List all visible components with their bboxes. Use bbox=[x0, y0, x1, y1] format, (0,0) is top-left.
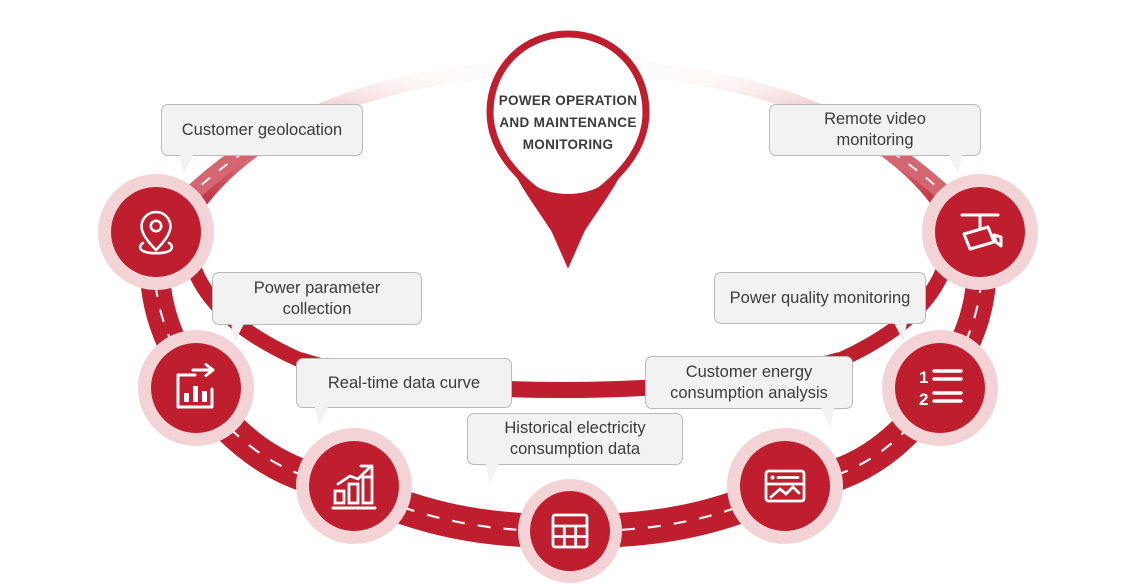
label-customer-energy-consumption-analysis[interactable]: Customer energy consumption analysis bbox=[645, 356, 853, 409]
node-disc bbox=[530, 491, 610, 571]
node-power-parameter-collection[interactable] bbox=[138, 330, 254, 446]
label-real-time-data-curve[interactable]: Real-time data curve bbox=[296, 358, 512, 408]
center-pin-title: POWER OPERATION AND MAINTENANCE MONITORI… bbox=[482, 90, 654, 156]
growth-chart-icon bbox=[328, 460, 380, 512]
label-text: Power quality monitoring bbox=[730, 288, 911, 309]
label-text: Real-time data curve bbox=[328, 373, 480, 394]
node-remote-video-monitoring[interactable] bbox=[922, 174, 1038, 290]
node-disc bbox=[111, 187, 201, 277]
label-text: Historical electricity consumption data bbox=[482, 418, 668, 460]
table-grid-icon bbox=[548, 509, 592, 553]
cctv-camera-icon bbox=[954, 208, 1006, 256]
callout-tail bbox=[231, 324, 244, 341]
center-pin: POWER OPERATION AND MAINTENANCE MONITORI… bbox=[482, 28, 654, 268]
bar-chart-export-icon bbox=[171, 363, 221, 413]
node-customer-energy-consumption-analysis[interactable] bbox=[727, 428, 843, 544]
label-power-parameter-collection[interactable]: Power parameter collection bbox=[212, 272, 422, 325]
svg-text:1: 1 bbox=[919, 368, 928, 387]
node-historical-electricity-consumption-data[interactable] bbox=[518, 479, 622, 583]
node-disc: 1 2 bbox=[895, 343, 985, 433]
node-customer-geolocation[interactable] bbox=[98, 174, 214, 290]
window-line-chart-icon bbox=[760, 461, 810, 511]
center-pin-title-line-3: MONITORING bbox=[482, 134, 654, 156]
label-text: Power parameter collection bbox=[227, 278, 407, 320]
diagram-canvas: POWER OPERATION AND MAINTENANCE MONITORI… bbox=[0, 0, 1139, 587]
node-disc bbox=[309, 441, 399, 531]
node-disc bbox=[935, 187, 1025, 277]
callout-tail bbox=[894, 323, 907, 340]
svg-text:2: 2 bbox=[919, 390, 928, 409]
node-disc bbox=[740, 441, 830, 531]
numbered-list-icon: 1 2 bbox=[915, 365, 965, 411]
node-disc bbox=[151, 343, 241, 433]
callout-tail bbox=[949, 155, 962, 172]
label-customer-geolocation[interactable]: Customer geolocation bbox=[161, 104, 363, 156]
callout-tail bbox=[315, 407, 328, 424]
callout-tail bbox=[486, 464, 499, 481]
node-power-quality-monitoring[interactable]: 1 2 bbox=[882, 330, 998, 446]
label-text: Customer geolocation bbox=[182, 120, 343, 141]
label-power-quality-monitoring[interactable]: Power quality monitoring bbox=[714, 272, 926, 324]
label-historical-electricity-consumption-data[interactable]: Historical electricity consumption data bbox=[467, 413, 683, 465]
map-pin-icon bbox=[130, 206, 182, 258]
label-text: Customer energy consumption analysis bbox=[660, 362, 838, 404]
center-pin-title-line-2: AND MAINTENANCE bbox=[482, 112, 654, 134]
label-text: Remote video monitoring bbox=[784, 109, 966, 151]
node-real-time-data-curve[interactable] bbox=[296, 428, 412, 544]
callout-tail bbox=[821, 408, 834, 425]
center-pin-title-line-1: POWER OPERATION bbox=[482, 90, 654, 112]
callout-tail bbox=[180, 155, 193, 172]
label-remote-video-monitoring[interactable]: Remote video monitoring bbox=[769, 104, 981, 156]
